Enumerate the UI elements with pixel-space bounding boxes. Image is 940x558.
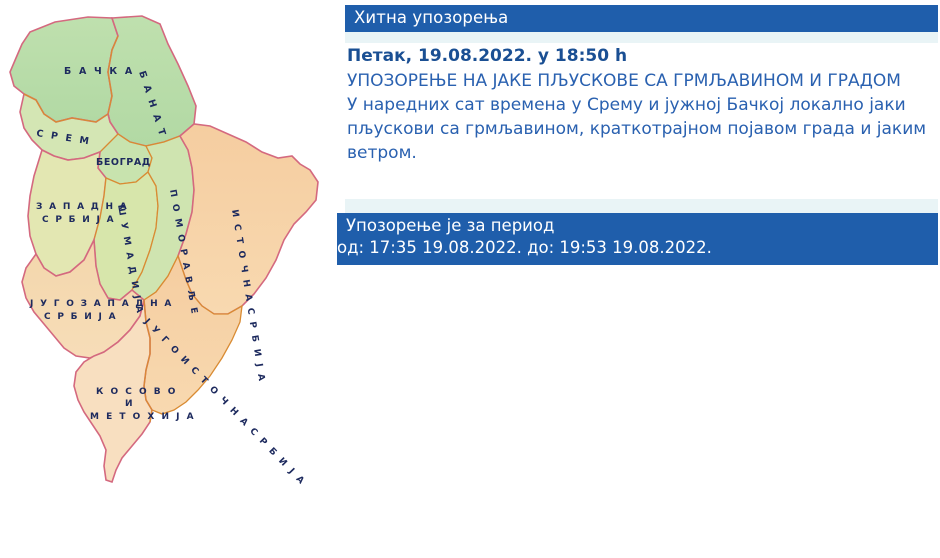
warning-body: Петак, 19.08.2022. у 18:50 h УПОЗОРЕЊЕ Н… xyxy=(347,45,933,165)
map-label-zapadna-srbija-line1: З А П А Д Н А xyxy=(36,202,129,212)
warning-headline: УПОЗОРЕЊЕ НА ЈАКЕ ПЉУСКОВЕ СА ГРМЉАВИНОМ… xyxy=(347,69,933,93)
map-label-kosovo-line2: И xyxy=(125,399,135,409)
map-label-jugozapadna-srbija-line1: Ј У Г О З А П А Д Н А xyxy=(29,299,173,309)
serbia-map: Б А Ч К А Б А Н А Т С Р Е М БЕОГРАД З А … xyxy=(0,10,338,500)
region-banat xyxy=(108,16,196,146)
serbia-map-panel: Б А Ч К А Б А Н А Т С Р Е М БЕОГРАД З А … xyxy=(0,0,338,558)
warning-period-bar: Упозорење је за период од: 17:35 19.08.2… xyxy=(337,213,938,265)
warning-period-label: Упозорење је за период xyxy=(346,216,554,235)
warning-period-range: од: 17:35 19.08.2022. до: 19:53 19.08.20… xyxy=(337,238,712,257)
footer-divider-strip xyxy=(345,199,938,213)
warning-issued-timestamp: Петак, 19.08.2022. у 18:50 h xyxy=(347,45,933,68)
emergency-warning-panel: Хитна упозорења Петак, 19.08.2022. у 18:… xyxy=(337,0,940,270)
map-label-zapadna-srbija-line2: С Р Б И Ј А xyxy=(42,215,115,225)
map-label-beograd: БЕОГРАД xyxy=(96,157,151,168)
map-label-kosovo-line1: К О С О В О xyxy=(96,387,177,397)
warning-header-title: Хитна упозорења xyxy=(354,8,508,27)
map-label-kosovo-line3: М Е Т О Х И Ј А xyxy=(90,412,196,422)
warning-details: У наредних сат времена у Срему и јужној … xyxy=(347,93,933,165)
map-label-jugozapadna-srbija-line2: С Р Б И Ј А xyxy=(44,312,117,322)
map-label-backa: Б А Ч К А xyxy=(64,66,134,77)
header-divider-strip xyxy=(345,32,938,43)
warning-header-bar: Хитна упозорења xyxy=(345,5,938,32)
